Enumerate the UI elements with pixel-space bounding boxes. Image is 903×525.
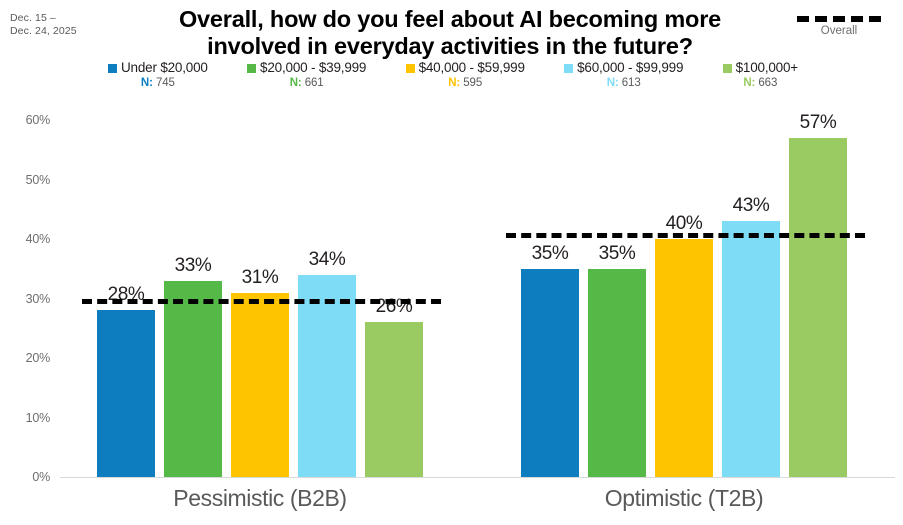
legend-item-sample-size: N: 613	[607, 76, 641, 90]
legend-swatch-icon	[564, 64, 573, 73]
date-range-line-1: Dec. 15 –	[10, 12, 110, 25]
y-axis-tick-label: 50%	[0, 173, 50, 187]
legend-swatch-icon	[108, 64, 117, 73]
legend-item-header: $40,000 - $59,999	[406, 61, 525, 75]
legend-n-value: 663	[755, 77, 777, 89]
legend-n-value: 595	[460, 77, 482, 89]
title-line-2: involved in everyday activities in the f…	[110, 33, 790, 60]
legend-item-header: $60,000 - $99,999	[564, 61, 683, 75]
overall-reference-line	[506, 233, 865, 238]
bar[interactable]	[789, 138, 847, 477]
bar-value-label: 57%	[800, 112, 837, 134]
date-range-line-2: Dec. 24, 2025	[10, 25, 110, 38]
overall-legend: Overall	[789, 8, 889, 37]
y-axis-tick-label: 60%	[0, 113, 50, 127]
bar[interactable]	[521, 269, 579, 477]
legend-item[interactable]: $60,000 - $99,999N: 613	[564, 61, 683, 90]
chart-header: Dec. 15 – Dec. 24, 2025 Overall, how do …	[0, 0, 903, 100]
y-axis-tick-label: 10%	[0, 411, 50, 425]
title-line-1: Overall, how do you feel about AI becomi…	[110, 6, 790, 33]
y-axis-tick-label: 40%	[0, 232, 50, 246]
series-legend: Under $20,000N: 745$20,000 - $39,999N: 6…	[108, 61, 798, 90]
legend-n-value: 745	[153, 77, 175, 89]
x-axis-line	[60, 477, 895, 478]
legend-item-label: $20,000 - $39,999	[260, 61, 366, 75]
bar-value-label: 33%	[175, 255, 212, 277]
legend-item[interactable]: $100,000+N: 663	[723, 61, 798, 90]
legend-item-sample-size: N: 663	[743, 76, 777, 90]
y-axis-tick-label: 0%	[0, 470, 50, 484]
legend-item-label: $40,000 - $59,999	[419, 61, 525, 75]
legend-n-value: 661	[302, 77, 324, 89]
bar-value-label: 43%	[733, 195, 770, 217]
legend-swatch-icon	[723, 64, 732, 73]
overall-reference-line	[82, 299, 441, 304]
legend-item-header: $100,000+	[723, 61, 798, 75]
y-axis-tick-label: 20%	[0, 351, 50, 365]
bar[interactable]	[298, 275, 356, 477]
bar[interactable]	[97, 310, 155, 477]
bar[interactable]	[588, 269, 646, 477]
bar[interactable]	[164, 281, 222, 477]
y-axis-tick-label: 30%	[0, 292, 50, 306]
overall-legend-label: Overall	[789, 25, 889, 37]
bar[interactable]	[231, 293, 289, 477]
legend-n-key: N:	[743, 77, 755, 89]
legend-item[interactable]: Under $20,000N: 745	[108, 61, 208, 90]
legend-n-value: 613	[619, 77, 641, 89]
bar-value-label: 40%	[666, 213, 703, 235]
legend-item-label: $100,000+	[736, 61, 798, 75]
dashed-line-icon	[797, 16, 881, 22]
date-range-label: Dec. 15 – Dec. 24, 2025	[10, 12, 110, 38]
legend-item-header: $20,000 - $39,999	[247, 61, 366, 75]
legend-item[interactable]: $40,000 - $59,999N: 595	[406, 61, 525, 90]
bar-value-label: 34%	[309, 249, 346, 271]
x-axis-group-label: Pessimistic (B2B)	[173, 485, 346, 512]
legend-item-sample-size: N: 745	[141, 76, 175, 90]
legend-item-header: Under $20,000	[108, 61, 208, 75]
chart-plot-area: 0%10%20%30%40%50%60%28%33%31%34%26%Pessi…	[0, 100, 903, 525]
legend-item[interactable]: $20,000 - $39,999N: 661	[247, 61, 366, 90]
legend-item-label: $60,000 - $99,999	[577, 61, 683, 75]
bar[interactable]	[365, 322, 423, 477]
legend-n-key: N:	[141, 77, 153, 89]
bar-value-label: 35%	[599, 243, 636, 265]
legend-item-label: Under $20,000	[121, 61, 208, 75]
legend-n-key: N:	[607, 77, 619, 89]
legend-swatch-icon	[247, 64, 256, 73]
legend-item-sample-size: N: 595	[448, 76, 482, 90]
legend-swatch-icon	[406, 64, 415, 73]
legend-item-sample-size: N: 661	[290, 76, 324, 90]
x-axis-group-label: Optimistic (T2B)	[605, 485, 763, 512]
bar[interactable]	[722, 221, 780, 477]
page-title: Overall, how do you feel about AI becomi…	[110, 6, 790, 60]
bar-value-label: 31%	[242, 267, 279, 289]
legend-n-key: N:	[448, 77, 460, 89]
bar-value-label: 35%	[532, 243, 569, 265]
legend-n-key: N:	[290, 77, 302, 89]
bar[interactable]	[655, 239, 713, 477]
